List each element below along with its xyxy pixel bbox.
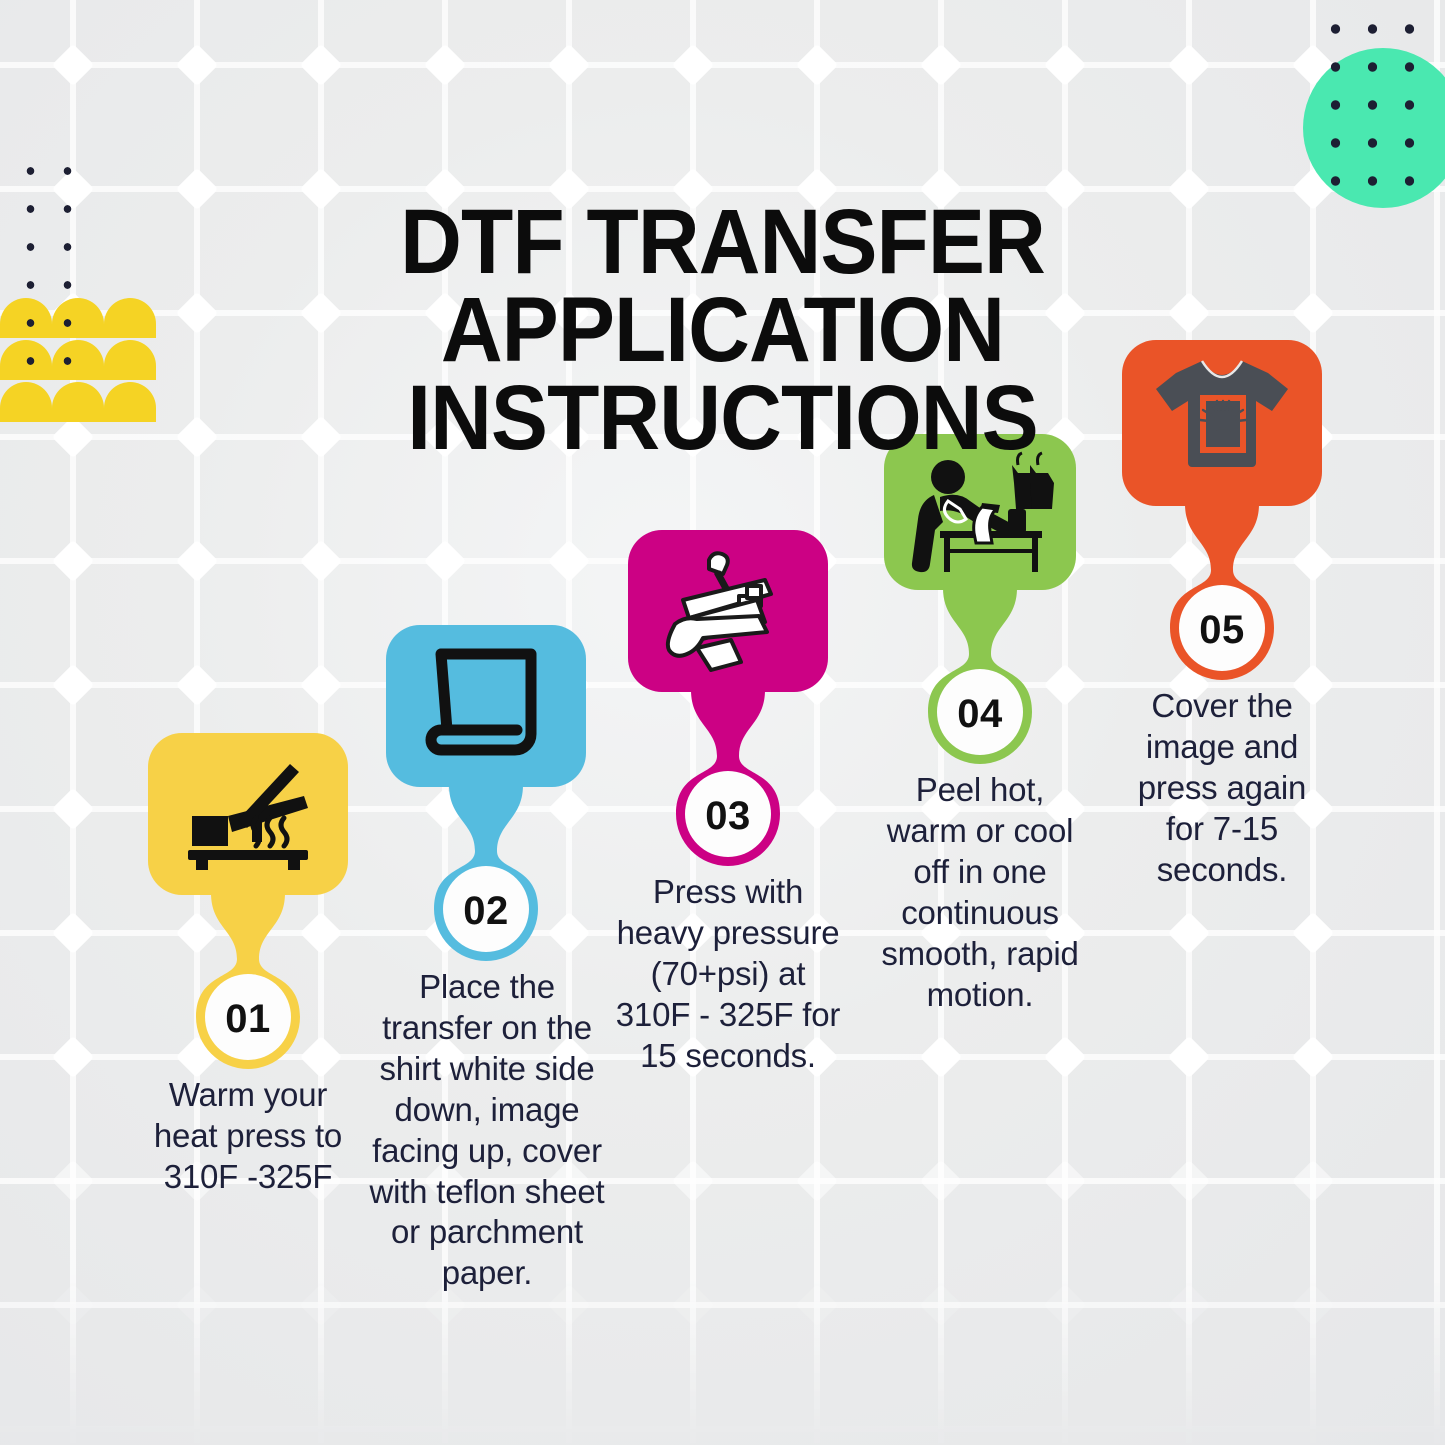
heat-press-icon <box>178 754 318 874</box>
step-02: 02Place the transfer on the shirt white … <box>362 625 610 1294</box>
step-icon-tile[interactable] <box>386 625 586 787</box>
step-icon-tile[interactable] <box>148 733 348 895</box>
transfer-sheet-icon <box>425 646 547 766</box>
title-line-2: INSTRUCTIONS <box>140 374 1305 462</box>
step-connector-shape <box>1098 504 1346 684</box>
step-connector: 05 <box>1098 504 1346 680</box>
page-title: DTF TRANSFER APPLICATION INSTRUCTIONS <box>51 198 1395 463</box>
step-caption: Warm your heat press to 310F -325F <box>133 1075 363 1198</box>
step-caption: Cover the image and press again for 7-15… <box>1122 686 1322 891</box>
step-number: 03 <box>604 794 852 839</box>
step-01: 01Warm your heat press to 310F -325F <box>124 733 372 1198</box>
step-connector: 01 <box>124 893 372 1069</box>
step-connector-shape <box>856 588 1104 768</box>
step-number: 02 <box>362 889 610 934</box>
title-line-1: DTF TRANSFER APPLICATION <box>400 191 1045 381</box>
step-connector-shape <box>362 785 610 965</box>
heat-press-shirt-icon <box>653 542 803 680</box>
step-caption: Press with heavy pressure (70+psi) at 31… <box>609 872 847 1077</box>
step-connector: 02 <box>362 785 610 961</box>
infographic-canvas: DTF TRANSFER APPLICATION INSTRUCTIONS 01… <box>0 0 1445 1445</box>
step-number: 04 <box>856 692 1104 737</box>
step-icon-tile[interactable] <box>628 530 828 692</box>
step-connector: 03 <box>604 690 852 866</box>
step-number: 05 <box>1098 608 1346 653</box>
step-04: 04Peel hot, warm or cool off in one cont… <box>856 434 1104 1015</box>
step-caption: Peel hot, warm or cool off in one contin… <box>880 770 1080 1015</box>
step-connector-shape <box>604 690 852 870</box>
step-number: 01 <box>124 997 372 1042</box>
step-03: 03Press with heavy pressure (70+psi) at … <box>604 530 852 1077</box>
step-caption: Place the transfer on the shirt white si… <box>362 967 612 1294</box>
step-connector: 04 <box>856 588 1104 764</box>
step-connector-shape <box>124 893 372 1073</box>
